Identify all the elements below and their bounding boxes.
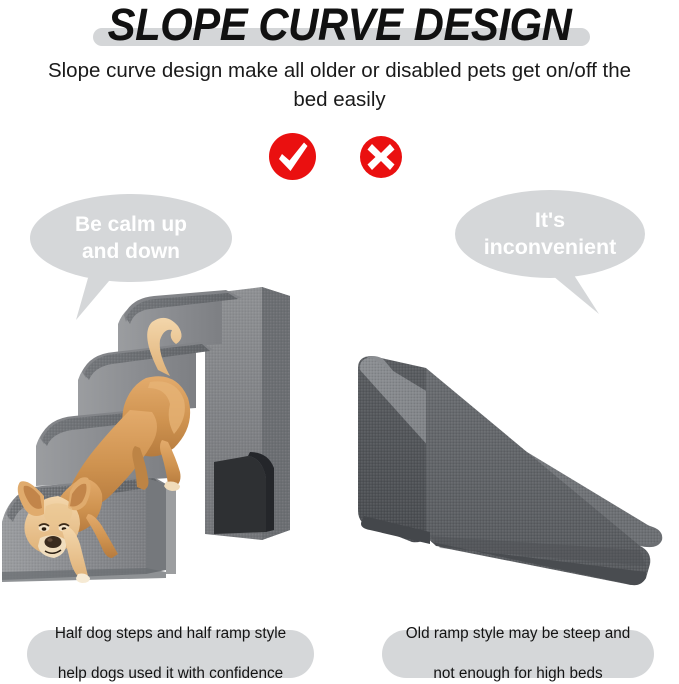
callout-right-line1: It's bbox=[535, 207, 565, 234]
caption-right-line2: not enough for high beds bbox=[398, 664, 638, 684]
caption-right-text: Old ramp style may be steep and not enou… bbox=[390, 624, 646, 684]
page-title: SLOPE CURVE DESIGN bbox=[24, 2, 655, 47]
caption-left-line1: Half dog steps and half ramp style bbox=[47, 624, 294, 644]
callout-left-line1: Be calm up bbox=[75, 211, 187, 238]
callout-right-line2: inconvenient bbox=[484, 234, 617, 261]
caption-right: Old ramp style may be steep and not enou… bbox=[382, 630, 654, 678]
caption-left-line2: help dogs used it with confidence bbox=[47, 664, 294, 684]
cross-mark-icon bbox=[360, 136, 402, 178]
page-subtitle: Slope curve design make all older or dis… bbox=[40, 56, 639, 114]
callout-left-line2: and down bbox=[82, 238, 180, 265]
check-mark-icon bbox=[269, 133, 316, 180]
caption-left-text: Half dog steps and half ramp style help … bbox=[39, 624, 302, 684]
caption-left: Half dog steps and half ramp style help … bbox=[27, 630, 314, 678]
callout-bubble-right: It's inconvenient bbox=[455, 190, 645, 312]
product-image-wedge-ramp bbox=[340, 350, 670, 605]
callout-text-right: It's inconvenient bbox=[455, 190, 645, 278]
caption-right-line1: Old ramp style may be steep and bbox=[398, 624, 638, 644]
header: SLOPE CURVE DESIGN Slope curve design ma… bbox=[0, 0, 679, 120]
product-image-pet-stairs bbox=[0, 282, 345, 587]
ramp-front-face bbox=[426, 368, 650, 585]
callout-text-left: Be calm up and down bbox=[30, 194, 232, 282]
